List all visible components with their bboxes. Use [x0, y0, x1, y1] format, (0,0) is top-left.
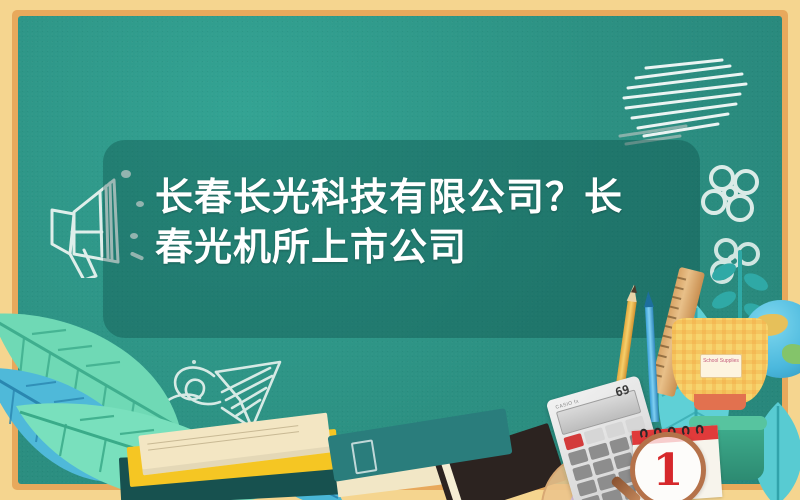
- calculator-key-ac[interactable]: [563, 433, 584, 451]
- page-title: 长春长光科技有限公司？长 春光机所上市公司: [155, 172, 655, 272]
- calculator-key[interactable]: [588, 443, 609, 461]
- backpack: School Supplies: [672, 318, 768, 404]
- pencil-lead: [630, 284, 637, 293]
- calculator-key[interactable]: [584, 427, 605, 445]
- backpack-label: School Supplies: [700, 354, 742, 378]
- magnifying-glass: 1: [630, 432, 706, 500]
- headline-line-2: 春光机所上市公司: [155, 222, 655, 272]
- headline-line-1: 长春长光科技有限公司？长: [155, 172, 655, 222]
- book-label-box: [351, 439, 378, 474]
- calculator-key[interactable]: [593, 458, 614, 476]
- chalk-eraser-smudge: [610, 44, 760, 154]
- globe-landmass-2: [782, 344, 800, 364]
- calculator-key[interactable]: [572, 464, 593, 482]
- backpack-strap: [694, 394, 746, 410]
- calculator-key[interactable]: [604, 421, 625, 439]
- calculator-key[interactable]: [609, 437, 630, 455]
- book-pages: [441, 459, 465, 500]
- banner-image: 长春长光科技有限公司？长 春光机所上市公司: [0, 0, 800, 500]
- pen-tip: [643, 291, 654, 308]
- calculator-display: 69: [614, 382, 632, 399]
- flower-chalk-drawing-large: [694, 160, 774, 236]
- calculator-key[interactable]: [568, 448, 589, 466]
- magnified-number: 1: [635, 437, 701, 500]
- calculator-key[interactable]: [577, 479, 598, 497]
